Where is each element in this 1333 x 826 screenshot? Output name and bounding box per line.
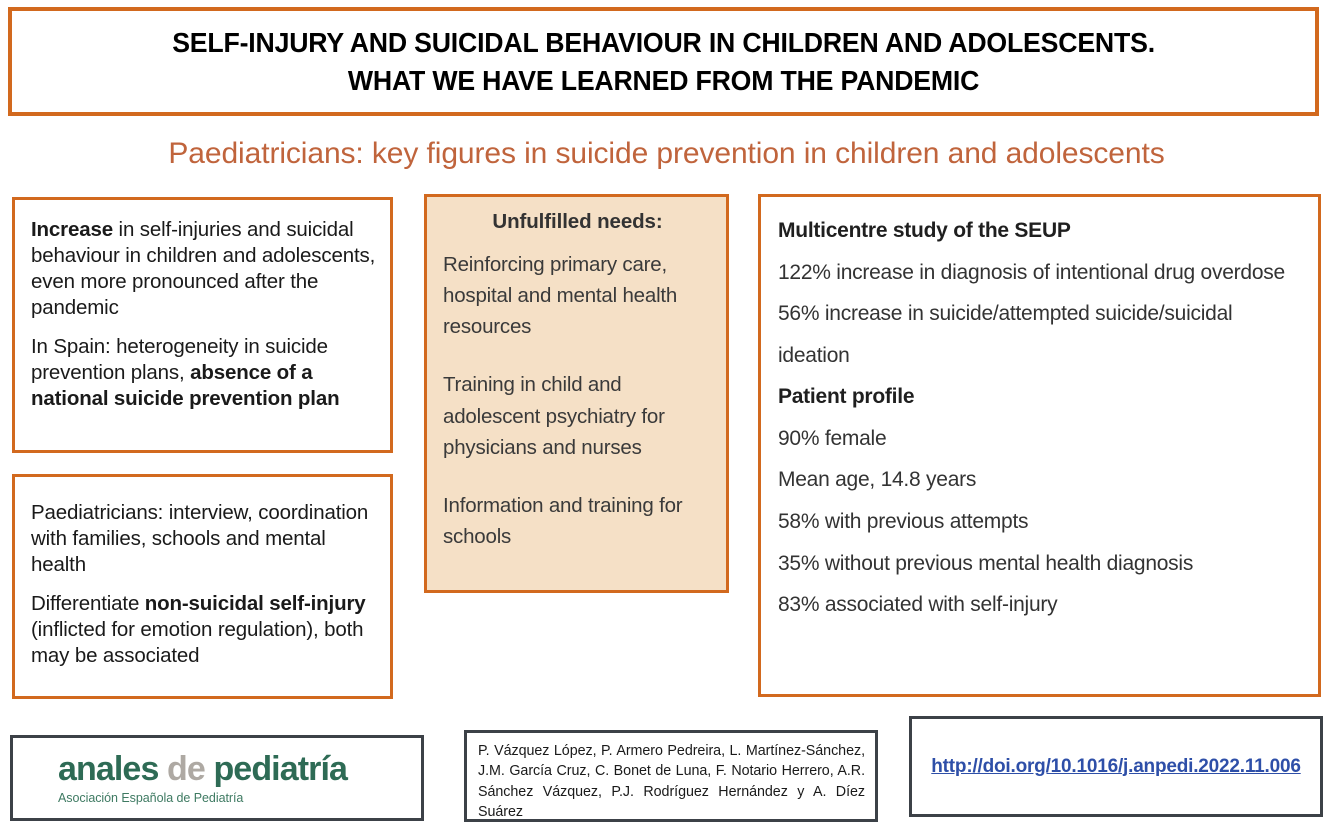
seup-study-finding: 122% increase in diagnosis of intentiona…	[778, 252, 1308, 294]
unfulfilled-need-item: Information and training for schools	[443, 490, 712, 552]
seup-study-finding: 56% increase in suicide/attempted suicid…	[778, 293, 1308, 376]
doi-box: http://doi.org/10.1016/j.anpedi.2022.11.…	[909, 716, 1323, 817]
title-box: SELF-INJURY AND SUICIDAL BEHAVIOUR IN CH…	[8, 7, 1319, 116]
doi-link[interactable]: http://doi.org/10.1016/j.anpedi.2022.11.…	[931, 756, 1300, 778]
patient-profile-heading: Patient profile	[778, 376, 1308, 418]
patient-profile-item: 83% associated with self-injury	[778, 584, 1308, 626]
logo-word-de: de	[167, 750, 205, 788]
authors-box: P. Vázquez López, P. Armero Pedreira, L.…	[464, 730, 878, 822]
panel-increase-findings: Increase in self-injuries and suicidal b…	[12, 197, 393, 453]
left-box1-paragraph-1: Increase in self-injuries and suicidal b…	[31, 217, 377, 321]
graphical-abstract-poster: SELF-INJURY AND SUICIDAL BEHAVIOUR IN CH…	[0, 0, 1333, 826]
left-box2-paragraph-1: Paediatricians: interview, coordination …	[31, 500, 377, 578]
patient-profile-item: 58% with previous attempts	[778, 501, 1308, 543]
unfulfilled-need-item: Training in child and adolescent psychia…	[443, 369, 712, 462]
unfulfilled-needs-heading: Unfulfilled needs:	[443, 210, 712, 234]
logo-word-anales: anales	[58, 750, 158, 788]
left-box1-paragraph-2: In Spain: heterogeneity in suicide preve…	[31, 334, 377, 412]
page-title: SELF-INJURY AND SUICIDAL BEHAVIOUR IN CH…	[172, 24, 1155, 99]
panel-paediatrician-role: Paediatricians: interview, coordination …	[12, 474, 393, 699]
authors-list: P. Vázquez López, P. Armero Pedreira, L.…	[478, 741, 865, 822]
left-box2-paragraph-2: Differentiate non-suicidal self-injury (…	[31, 591, 377, 669]
logo-word-pediatria: pediatría	[213, 750, 347, 788]
panel-seup-study: Multicentre study of the SEUP 122% incre…	[758, 194, 1321, 697]
left-box2-p2-start: Differentiate	[31, 592, 145, 615]
patient-profile-item: 90% female	[778, 418, 1308, 460]
patient-profile-item: Mean age, 14.8 years	[778, 459, 1308, 501]
journal-logo-box: anales de pediatría Asociación Española …	[10, 735, 424, 821]
left-box1-p1-bold: Increase	[31, 218, 113, 241]
journal-logo-subtitle: Asociación Española de Pediatría	[58, 791, 421, 805]
left-box2-p2-rest: (inflicted for emotion regulation), both…	[31, 618, 363, 667]
page-subtitle: Paediatricians: key figures in suicide p…	[0, 136, 1333, 172]
journal-logo-wordmark: anales de pediatría	[58, 752, 421, 786]
patient-profile-item: 35% without previous mental health diagn…	[778, 543, 1308, 585]
unfulfilled-need-item: Reinforcing primary care, hospital and m…	[443, 249, 712, 342]
seup-study-heading: Multicentre study of the SEUP	[778, 210, 1308, 252]
panel-unfulfilled-needs: Unfulfilled needs: Reinforcing primary c…	[424, 194, 729, 593]
left-box2-p2-bold: non-suicidal self-injury	[145, 592, 366, 615]
